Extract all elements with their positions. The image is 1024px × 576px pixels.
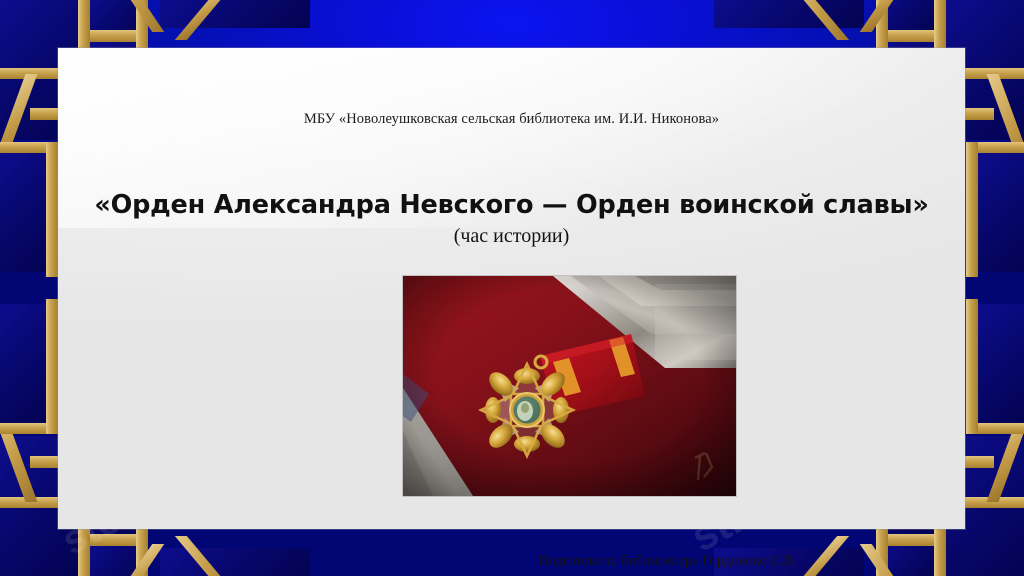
frame-gold-bar xyxy=(876,534,934,546)
organization-name: МБУ «Новолеушковская сельская библиотека… xyxy=(58,111,965,128)
presentation-slide: e stre sto МБУ «Новолеушковская сельская… xyxy=(0,0,1024,576)
slide-content-panel: МБУ «Новолеушковская сельская библиотека… xyxy=(58,48,965,529)
slide-subtitle: (час истории) xyxy=(58,225,965,248)
frame-navy-block xyxy=(978,304,1024,424)
frame-gold-bar xyxy=(90,534,148,546)
frame-navy-block xyxy=(160,0,310,28)
frame-gold-diagonal xyxy=(987,406,1024,502)
frame-gold-bar xyxy=(90,30,148,42)
medal-photo-illustration xyxy=(403,276,736,496)
frame-navy-block xyxy=(0,152,46,272)
frame-navy-block xyxy=(978,152,1024,272)
frame-gold-diagonal xyxy=(175,0,237,40)
frame-gold-bar xyxy=(46,299,58,434)
frame-gold-diagonal xyxy=(0,74,37,170)
frame-gold-diagonal xyxy=(860,0,917,32)
frame-navy-block xyxy=(0,304,46,424)
slide-title: «Орден Александра Невского — Орден воинс… xyxy=(58,190,965,220)
frame-gold-diagonal xyxy=(787,0,849,40)
title-block: «Орден Александра Невского — Орден воинс… xyxy=(58,190,965,248)
frame-gold-bar xyxy=(966,142,1024,153)
frame-gold-bar xyxy=(876,30,934,42)
medal-photo xyxy=(403,276,736,496)
frame-gold-diagonal xyxy=(987,74,1024,170)
frame-gold-bar xyxy=(0,142,58,153)
frame-navy-block xyxy=(90,0,148,30)
frame-gold-diagonal xyxy=(108,0,165,32)
frame-gold-bar xyxy=(966,299,978,434)
frame-navy-block xyxy=(876,0,934,30)
frame-gold-diagonal xyxy=(0,406,37,502)
frame-gold-bar xyxy=(0,423,58,434)
frame-gold-bar xyxy=(46,142,58,277)
author-credit-text: Подготовила библиоекарь Гордиенко С.В. xyxy=(538,553,797,570)
frame-gold-bar xyxy=(966,423,1024,434)
frame-navy-block xyxy=(714,0,864,28)
author-credit: Подготовила библиоекарь Гордиенко С.В. xyxy=(58,553,965,570)
frame-gold-bar xyxy=(966,142,978,277)
